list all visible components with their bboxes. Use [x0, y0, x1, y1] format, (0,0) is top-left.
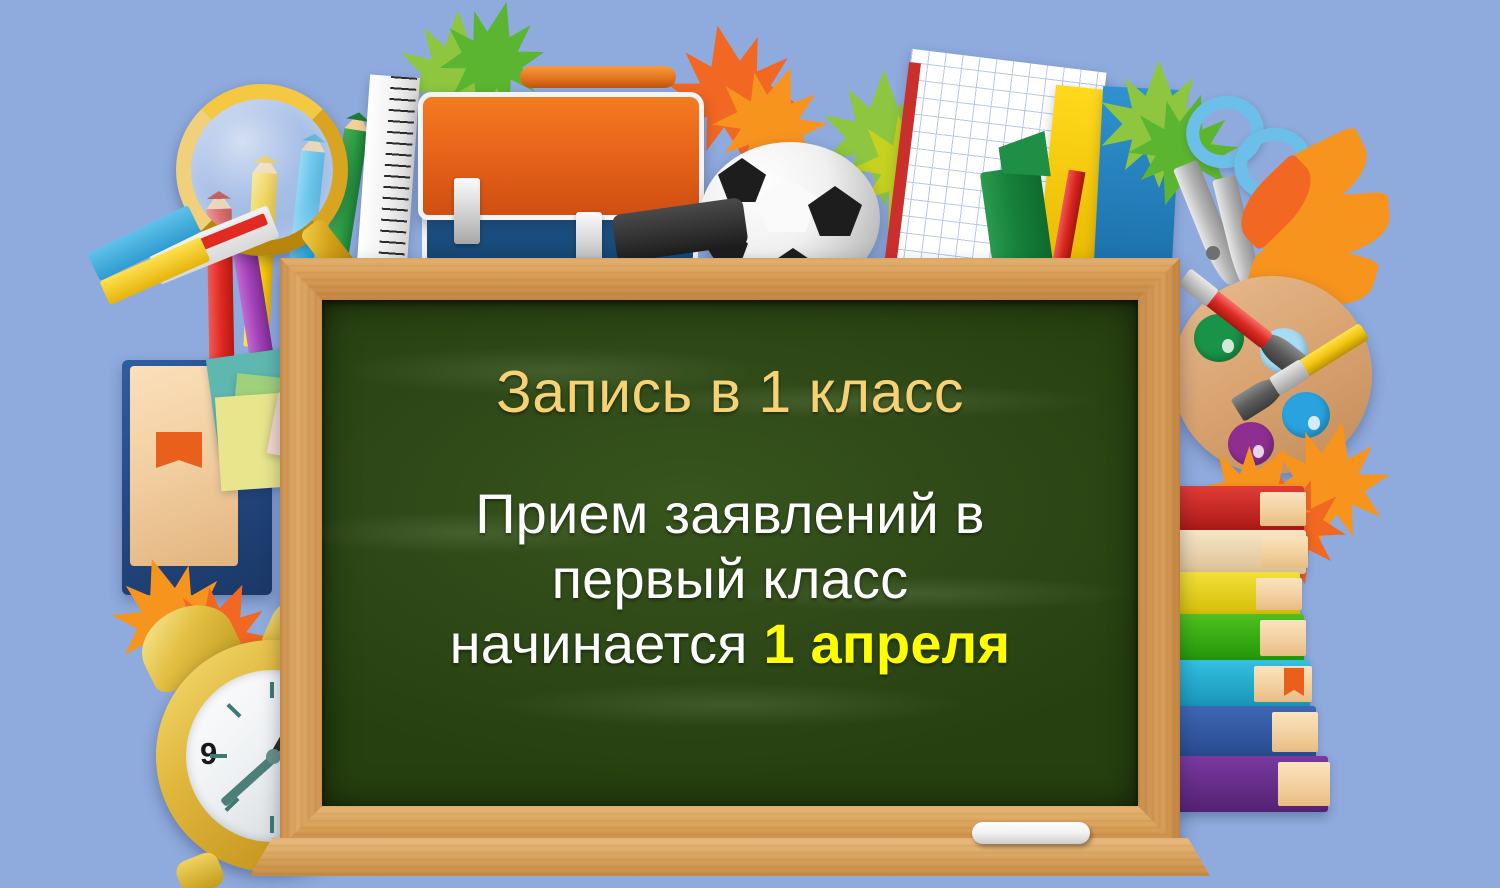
announcement-line-3-prefix: начинается [450, 612, 764, 675]
book-red-icon [1176, 486, 1304, 532]
page-title: Запись в 1 класс [496, 358, 964, 426]
frame-top [280, 258, 1180, 300]
book-green-icon [1172, 614, 1304, 662]
announcement-line-3: начинается 1 апреля [450, 612, 1011, 677]
announcement-line-1: Прием заявлений в [450, 482, 1011, 547]
book-blue-icon [1174, 706, 1316, 758]
book-yellow-icon [1170, 572, 1300, 616]
briefcase-handle-icon [520, 66, 676, 88]
briefcase-buckle-icon [454, 178, 480, 244]
book-pages [1256, 578, 1302, 610]
announcement-line-2: первый класс [450, 547, 1011, 612]
clock-center-pin [266, 749, 281, 764]
scissors-pivot-icon [1206, 246, 1220, 260]
clock-tick [270, 682, 274, 698]
chalkboard-surface: Запись в 1 класс Прием заявлений в первы… [322, 300, 1138, 806]
frame-right [1138, 258, 1180, 848]
announcement-date-highlight: 1 апреля [763, 612, 1010, 675]
book-pages [1260, 620, 1306, 656]
ball-patch [718, 158, 766, 202]
book-purple-icon [1176, 756, 1328, 812]
clock-tick [210, 754, 227, 758]
frame-left [280, 258, 322, 848]
clock-minute-hand [220, 756, 275, 807]
chalkboard-text-block: Запись в 1 класс Прием заявлений в первы… [322, 300, 1138, 806]
clock-tick [270, 816, 274, 833]
book-pages [1260, 492, 1306, 526]
chalkboard: Запись в 1 класс Прием заявлений в первы… [280, 258, 1180, 848]
poster-canvas: 12 9 6 [0, 0, 1500, 888]
paint-blob-blue [1282, 392, 1330, 438]
announcement-text: Прием заявлений в первый класс начинаетс… [450, 482, 1011, 677]
book-pages [1272, 712, 1318, 752]
ball-patch [808, 186, 862, 236]
book-pages [1278, 762, 1330, 806]
book-cream-icon [1172, 530, 1306, 574]
clock-tick [226, 703, 241, 718]
book-pages [1262, 536, 1308, 568]
chalk-icon [972, 822, 1090, 844]
book-cyan-icon [1174, 660, 1310, 708]
